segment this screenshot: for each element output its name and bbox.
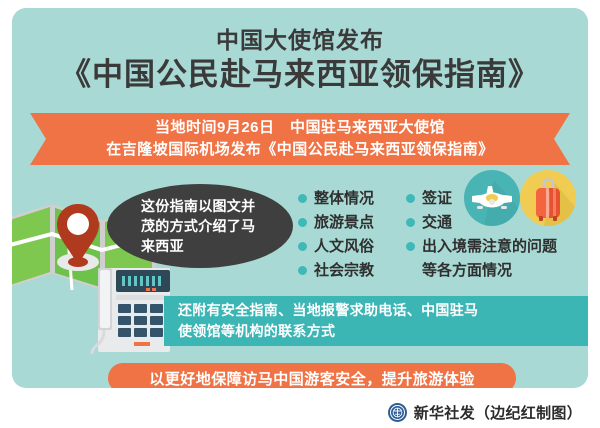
ribbon-banner: 当地时间9月26日 中国驻马来西亚大使馆 在吉隆坡国际机场发布《中国公民赴马来西… — [30, 113, 570, 165]
list-item: 社会宗教 — [298, 260, 374, 281]
list-item-label: 出入境需注意的问题 — [422, 236, 557, 257]
bullet-dot-icon — [298, 242, 307, 251]
teal-info-box: 还附有安全指南、当地报警求助电话、中国驻马 使领馆等机构的联系方式 — [164, 296, 588, 346]
teal-box-line-1: 还附有安全指南、当地报警求助电话、中国驻马 — [178, 300, 588, 321]
list-item: 等各方面情况 — [406, 260, 557, 281]
infographic-card: 中国大使馆发布 《中国公民赴马来西亚领保指南》 当地时间9月26日 中国驻马来西… — [12, 8, 588, 388]
list-item-label: 等各方面情况 — [422, 260, 512, 281]
ribbon-line-1: 当地时间9月26日 中国驻马来西亚大使馆 — [30, 117, 570, 139]
summary-pill: 以更好地保障访马中国游客安全，提升旅游体验 — [108, 363, 516, 388]
bullet-dot-icon — [406, 194, 415, 203]
credit-text: 新华社发（边纪红制图） — [414, 402, 582, 423]
list-item-label: 社会宗教 — [314, 260, 374, 281]
page-title: 中国大使馆发布 《中国公民赴马来西亚领保指南》 — [12, 26, 588, 94]
bullet-dot-icon — [406, 218, 415, 227]
bullet-dot-placeholder — [406, 266, 415, 275]
teal-box-line-2: 使领馆等机构的联系方式 — [178, 321, 588, 342]
bullet-dot-icon — [406, 242, 415, 251]
list-item: 出入境需注意的问题 — [406, 236, 557, 257]
title-line-1: 中国大使馆发布 — [12, 26, 588, 54]
list-item-label: 人文风俗 — [314, 236, 374, 257]
list-item-label: 交通 — [422, 212, 452, 233]
bullet-dot-icon — [298, 266, 307, 275]
speech-bubble-text: 这份指南以图文并茂的方式介绍了马来西亚 — [141, 196, 267, 256]
xinhua-logo-icon — [388, 403, 407, 422]
ribbon-line-2: 在吉隆坡国际机场发布《中国公民赴马来西亚领保指南》 — [30, 139, 570, 161]
bullet-dot-icon — [298, 218, 307, 227]
list-item: 整体情况 — [298, 188, 374, 209]
airplane-icon — [464, 170, 520, 226]
list-item: 旅游景点 — [298, 212, 374, 233]
speech-bubble: 这份指南以图文并茂的方式介绍了马来西亚 — [107, 184, 293, 268]
title-line-2: 《中国公民赴马来西亚领保指南》 — [12, 56, 588, 94]
list-item-label: 整体情况 — [314, 188, 374, 209]
bullet-dot-icon — [298, 194, 307, 203]
telephone-icon — [90, 260, 174, 356]
footer: 新华社发（边纪红制图） — [0, 396, 600, 428]
bullet-column-left: 整体情况 旅游景点 人文风俗 社会宗教 — [298, 188, 374, 284]
list-item-label: 旅游景点 — [314, 212, 374, 233]
list-item-label: 签证 — [422, 188, 452, 209]
list-item: 人文风俗 — [298, 236, 374, 257]
suitcase-icon — [520, 170, 576, 226]
